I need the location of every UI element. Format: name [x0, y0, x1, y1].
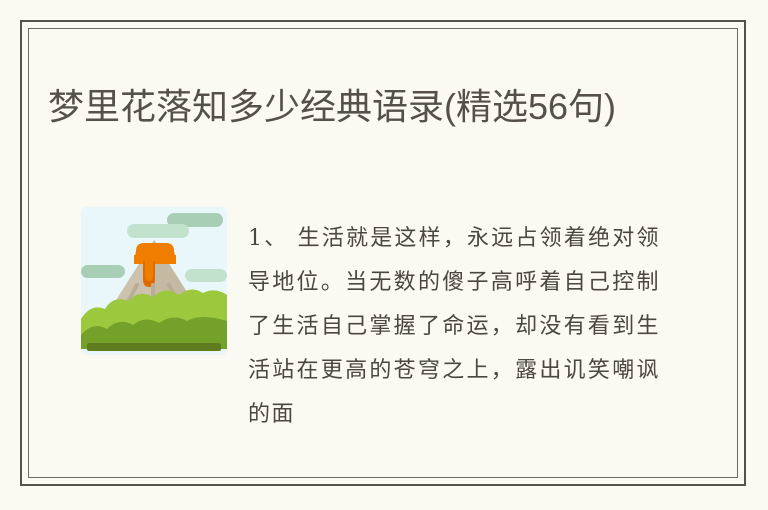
article-content: 梦里花落知多少经典语录(精选56句) — [29, 29, 737, 477]
article-paragraph: 1、 生活就是这样，永远占领着绝对领导地位。当无数的傻子高呼着自己控制了生活自己… — [248, 217, 660, 437]
page-title: 梦里花落知多少经典语录(精选56句) — [48, 79, 648, 135]
volcano-icon — [81, 207, 227, 355]
page-root: 梦里花落知多少经典语录(精选56句) — [0, 0, 768, 510]
